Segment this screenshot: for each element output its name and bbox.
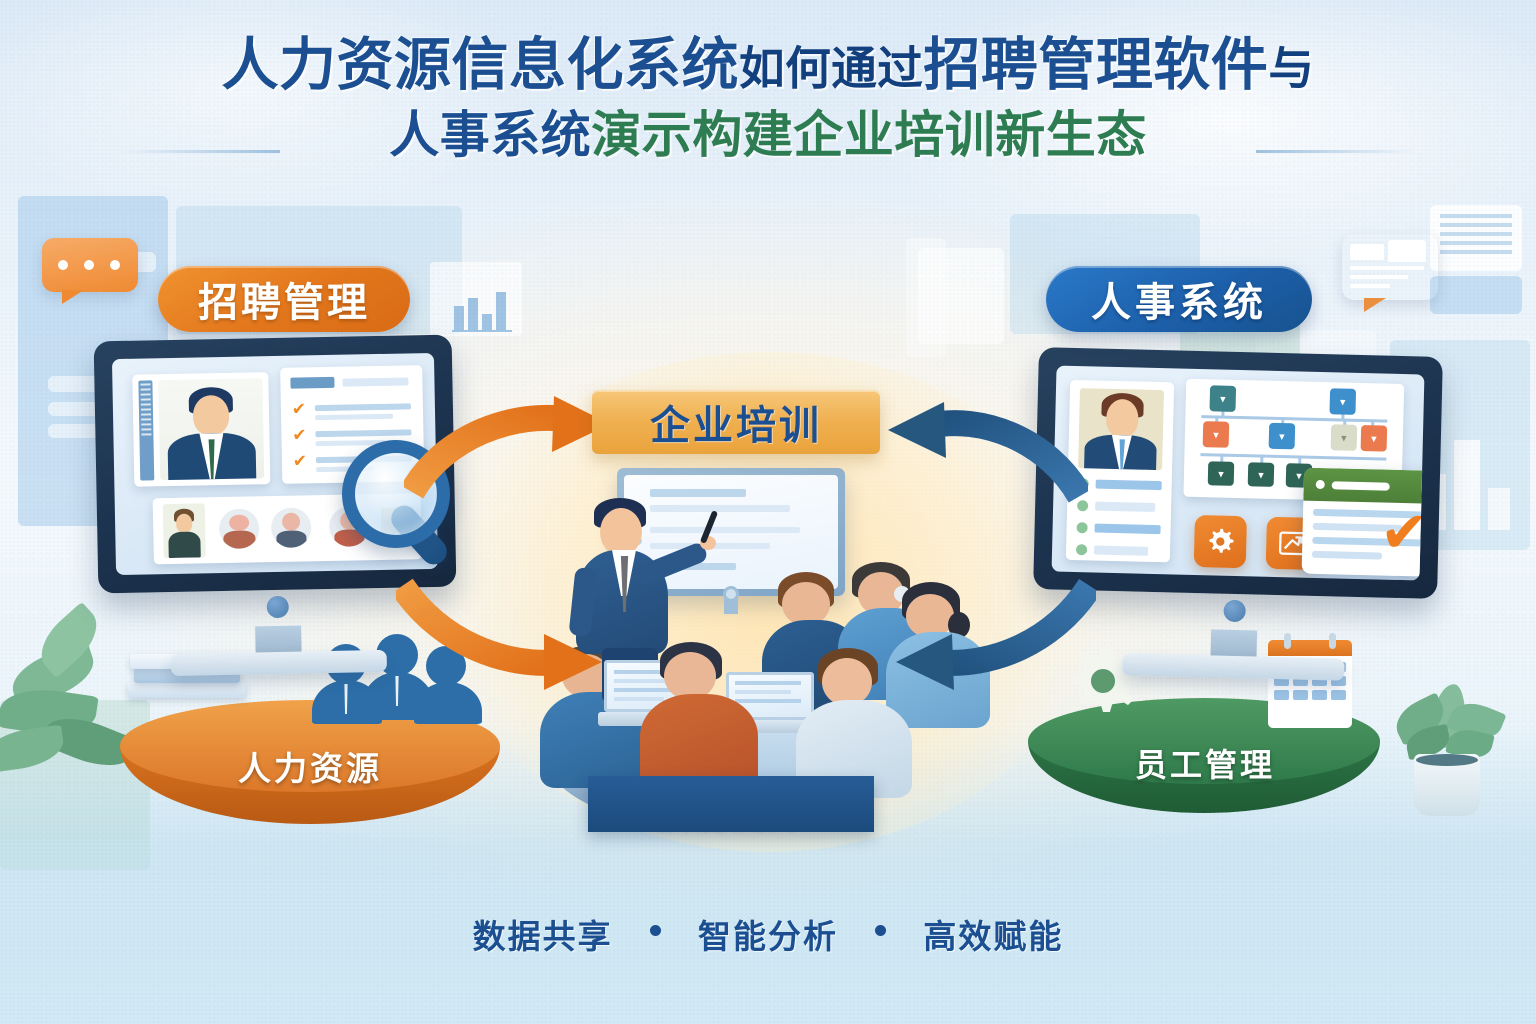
check-icon: ✔ [292, 453, 308, 469]
approval-card[interactable]: ✔ [1302, 468, 1425, 577]
org-node[interactable]: ▾ [1203, 421, 1230, 448]
check-icon: ✔ [291, 427, 307, 443]
recruitment-to-training-arrow [404, 396, 624, 506]
org-node[interactable]: ▾ [1209, 385, 1236, 412]
org-node[interactable]: ▾ [1331, 424, 1358, 451]
footer-item-data-sharing: 数据共享 [473, 918, 613, 955]
hr-to-skills-arrow [396, 572, 616, 692]
doc-line [315, 414, 393, 420]
title-segment-and: 与 [1268, 43, 1314, 94]
monitor-bezel: ▾ ▾ ▾ ▾ ▾ ▾ ▾ ▾ ▾ [1033, 347, 1443, 599]
infographic-canvas: 人力资源信息化系统如何通过招聘管理软件与 人事系统演示构建企业培训新生态 招聘管… [0, 0, 1536, 1024]
avatar [271, 507, 312, 548]
trainee-figure [640, 642, 766, 788]
check-icon: ✔ [1379, 503, 1424, 562]
employee-photo [1078, 388, 1164, 470]
chat-bubble-icon [42, 238, 138, 292]
org-node[interactable]: ▾ [1329, 388, 1356, 415]
hr-system-screen[interactable]: ▾ ▾ ▾ ▾ ▾ ▾ ▾ ▾ ▾ [1052, 366, 1425, 581]
title-segment-recruit-software: 招聘管理软件 [923, 33, 1268, 97]
doc-line [315, 403, 411, 411]
employee-to-skills-arrow [896, 572, 1096, 692]
org-connector [1201, 415, 1387, 423]
footer-dot [650, 925, 661, 936]
org-node[interactable]: ▾ [1248, 462, 1275, 487]
doc-line [342, 377, 408, 386]
check-icon: ✔ [291, 401, 307, 417]
badge-hr-system[interactable]: 人事系统 [1046, 266, 1312, 332]
footer-item-smart-analysis: 智能分析 [698, 918, 838, 955]
platform-label-employee-management: 员工管理 [1060, 740, 1350, 786]
footer-item-efficiency: 高效赋能 [923, 918, 1063, 955]
gear-icon[interactable] [1194, 515, 1247, 568]
title-segment-howvia: 如何通过 [739, 43, 923, 94]
org-connector [1200, 453, 1386, 461]
sidebar-ruler [138, 380, 154, 480]
hr-system-to-training-arrow [888, 400, 1088, 510]
candidate-photo [158, 378, 264, 480]
org-node[interactable]: ▾ [1269, 423, 1296, 450]
title-segment-hris: 人力资源信息化系统 [222, 33, 740, 97]
potted-plant-icon [1388, 684, 1508, 834]
avatar [163, 503, 206, 558]
calendar-icon [1268, 640, 1352, 728]
document-bubble-icon [1342, 234, 1438, 300]
badge-recruitment-management[interactable]: 招聘管理 [158, 266, 410, 332]
card-title-bar [1303, 468, 1424, 504]
platform-label-human-resources: 人力资源 [170, 742, 450, 790]
footer-dot [875, 925, 886, 936]
platform-label-band [588, 776, 874, 832]
center-tag-corporate-training[interactable]: 企业培训 [592, 390, 880, 454]
candidate-profile-card[interactable] [132, 372, 270, 487]
doc-line [1312, 551, 1382, 560]
monitor-base [171, 650, 387, 676]
title-segment-ecosystem: 演示构建企业培训新生态 [591, 107, 1147, 163]
avatar [219, 508, 260, 549]
page-title: 人力资源信息化系统如何通过招聘管理软件与 人事系统演示构建企业培训新生态 [0, 36, 1536, 161]
org-node[interactable]: ▾ [1361, 425, 1388, 452]
org-node[interactable]: ▾ [1208, 461, 1235, 486]
footer-keywords: 数据共享 智能分析 高效赋能 [0, 910, 1536, 958]
doc-title-bar [290, 377, 334, 389]
hr-system-monitor[interactable]: ▾ ▾ ▾ ▾ ▾ ▾ ▾ ▾ ▾ [1033, 347, 1443, 599]
title-segment-hrsystem: 人事系统 [389, 107, 591, 163]
slide-line [650, 489, 746, 497]
doc-line [315, 429, 411, 437]
